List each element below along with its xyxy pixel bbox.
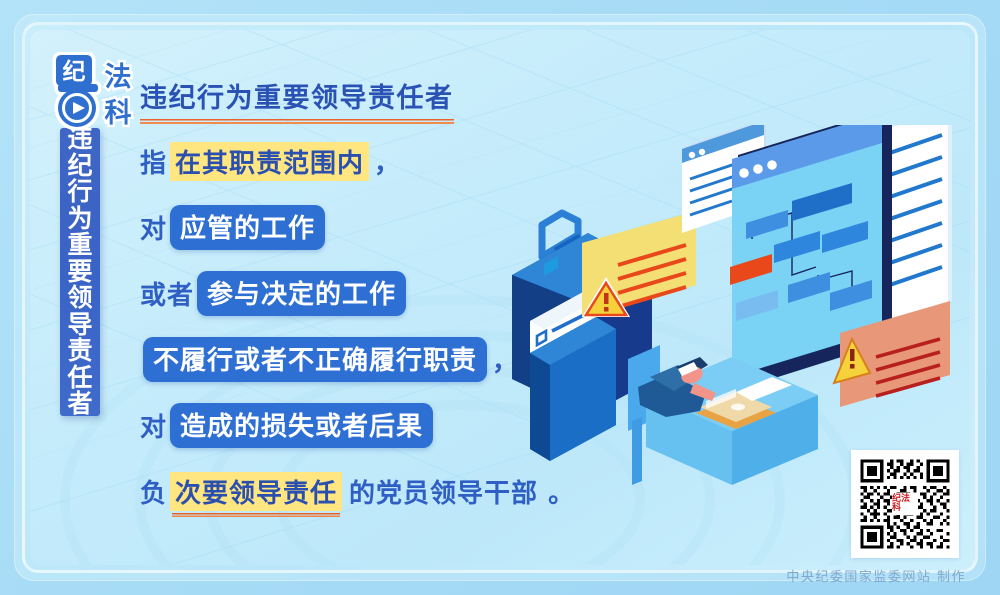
vertical-title-text: 责: [67, 338, 92, 365]
page-title: 违纪行为重要领导责任者: [140, 83, 454, 114]
footer-credit: 中央纪委国家监委网站 制作: [786, 566, 966, 585]
line-4-suffix: ，: [492, 341, 518, 378]
text-line-4: 不履行或者不正确履行职责 ，: [140, 336, 560, 382]
qr-center-logo-text: 纪法科: [892, 495, 918, 513]
vertical-title-text: 导: [67, 312, 92, 339]
line-1-prefix: 指: [140, 143, 167, 180]
qr-center-logo: 纪法科: [892, 493, 918, 515]
text-line-5: 对 造成的损失或者后果: [140, 402, 560, 448]
vertical-title-text: 纪: [67, 153, 92, 180]
logo-char-ke: 科: [105, 98, 132, 129]
line-1-suffix: ，: [374, 143, 400, 180]
title-underline: [140, 119, 454, 124]
isometric-illustration: [500, 125, 970, 485]
definition-text-block: 违纪行为重要领导责任者 指 在其职责范围内 ， 对 应管的工作 或者 参与决定的…: [140, 72, 560, 514]
line-2-highlight: 应管的工作: [170, 205, 325, 250]
line-1-highlight: 在其职责范围内: [170, 142, 369, 181]
logo-char-fa: 法: [105, 62, 132, 93]
vertical-title-text: 重: [67, 232, 92, 259]
text-line-6: 负 次要领导责任 的党员领导干部 。: [140, 468, 560, 514]
yellow-warning-card: [582, 211, 696, 317]
line-2-prefix: 对: [140, 209, 167, 246]
frame-inner: 纪 法 科 违 纪 行 为 重 要 领 导 责 任 者: [30, 30, 970, 565]
line-3-prefix: 或者: [140, 275, 194, 312]
text-line-1: 指 在其职责范围内 ，: [140, 138, 560, 184]
vertical-title-text: 为: [67, 206, 92, 233]
vertical-title-text: 领: [67, 285, 92, 312]
text-line-2: 对 应管的工作: [140, 204, 560, 250]
line-6-highlight: 次要领导责任: [170, 472, 342, 511]
text-line-title: 违纪行为重要领导责任者: [140, 72, 560, 118]
line-3-highlight: 参与决定的工作: [197, 271, 406, 316]
line-5-prefix: 对: [140, 407, 167, 444]
qr-code[interactable]: 纪法科: [851, 450, 959, 558]
vertical-title-banner: 违 纪 行 为 重 要 领 导 责 任 者: [60, 128, 100, 416]
line-6-suffix: 的党员领导干部 。: [349, 473, 575, 510]
page-title-wrap: 违纪行为重要领导责任者: [140, 76, 454, 115]
brand-logo: 纪 法 科: [50, 52, 142, 132]
svg-text:纪: 纪: [63, 58, 86, 85]
line-4-highlight: 不履行或者不正确履行职责: [143, 337, 487, 382]
vertical-title-text: 任: [67, 365, 92, 392]
vertical-title-text: 行: [67, 179, 92, 206]
poster-root: 纪 法 科 违 纪 行 为 重 要 领 导 责 任 者: [0, 0, 1000, 595]
vertical-title-text: 者: [67, 391, 92, 418]
vertical-title-text: 要: [67, 259, 92, 286]
line-6-prefix: 负: [140, 473, 167, 510]
text-line-3: 或者 参与决定的工作: [140, 270, 560, 316]
line-5-highlight: 造成的损失或者后果: [170, 403, 433, 448]
